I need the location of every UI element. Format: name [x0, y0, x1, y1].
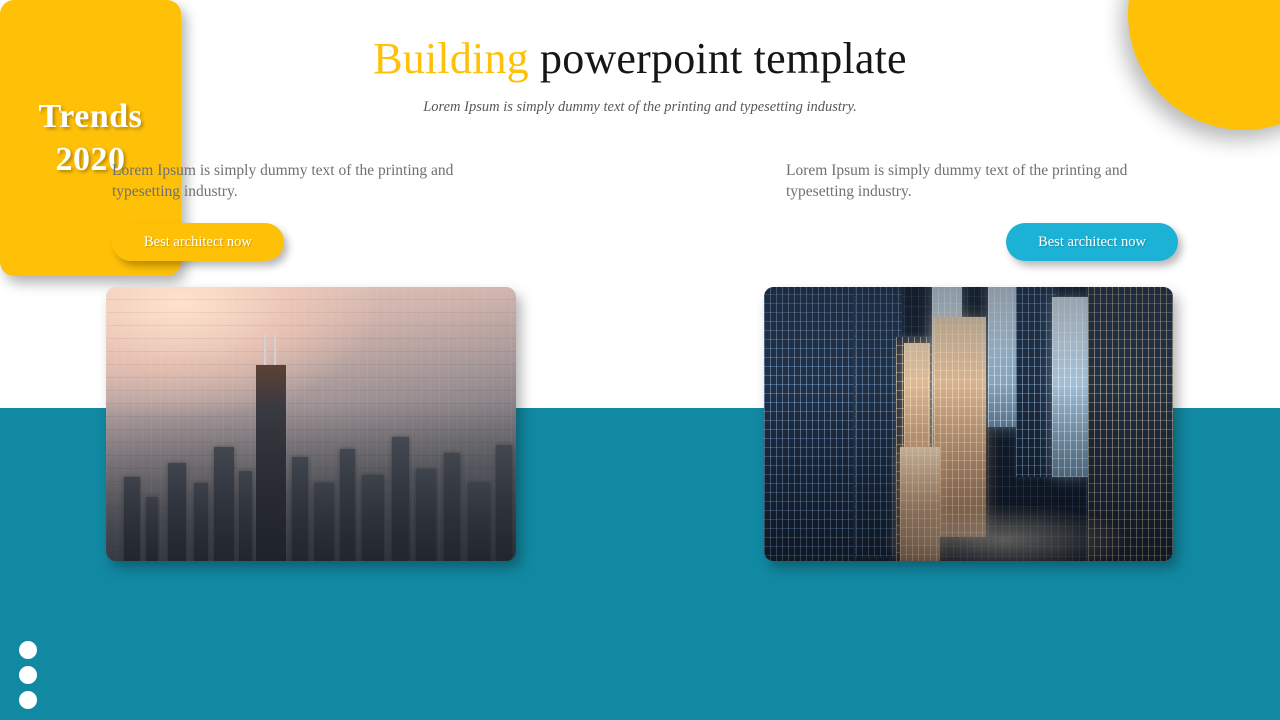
title-accent-word: Building	[373, 34, 529, 83]
column-left-body-text: Lorem Ipsum is simply dummy text of the …	[112, 160, 504, 202]
best-architect-now-button-left[interactable]: Best architect now	[112, 223, 284, 261]
daytime-cityscape-image	[106, 287, 516, 561]
column-right-body-text: Lorem Ipsum is simply dummy text of the …	[786, 160, 1178, 202]
slide-canvas: Building powerpoint template Lorem Ipsum…	[0, 0, 1280, 720]
text-column-left: Lorem Ipsum is simply dummy text of the …	[112, 160, 504, 261]
column-left-button-row: Best architect now	[112, 223, 504, 261]
page-title: Building powerpoint template	[0, 32, 1280, 86]
pagination-dots[interactable]	[19, 641, 37, 709]
page-subtitle: Lorem Ipsum is simply dummy text of the …	[0, 97, 1280, 117]
street-light-glow	[884, 505, 1124, 561]
column-right-button-row: Best architect now	[786, 223, 1178, 261]
photo-card-right[interactable]	[764, 287, 1173, 561]
best-architect-now-button-right[interactable]: Best architect now	[1006, 223, 1178, 261]
text-column-right: Lorem Ipsum is simply dummy text of the …	[786, 160, 1178, 261]
title-rest: powerpoint template	[529, 34, 907, 83]
pagination-dot-3[interactable]	[19, 691, 37, 709]
pagination-dot-2[interactable]	[19, 666, 37, 684]
pagination-dot-1[interactable]	[19, 641, 37, 659]
photo-card-left[interactable]	[106, 287, 516, 561]
main-tower-shape	[256, 365, 286, 561]
night-cityscape-image	[764, 287, 1173, 561]
